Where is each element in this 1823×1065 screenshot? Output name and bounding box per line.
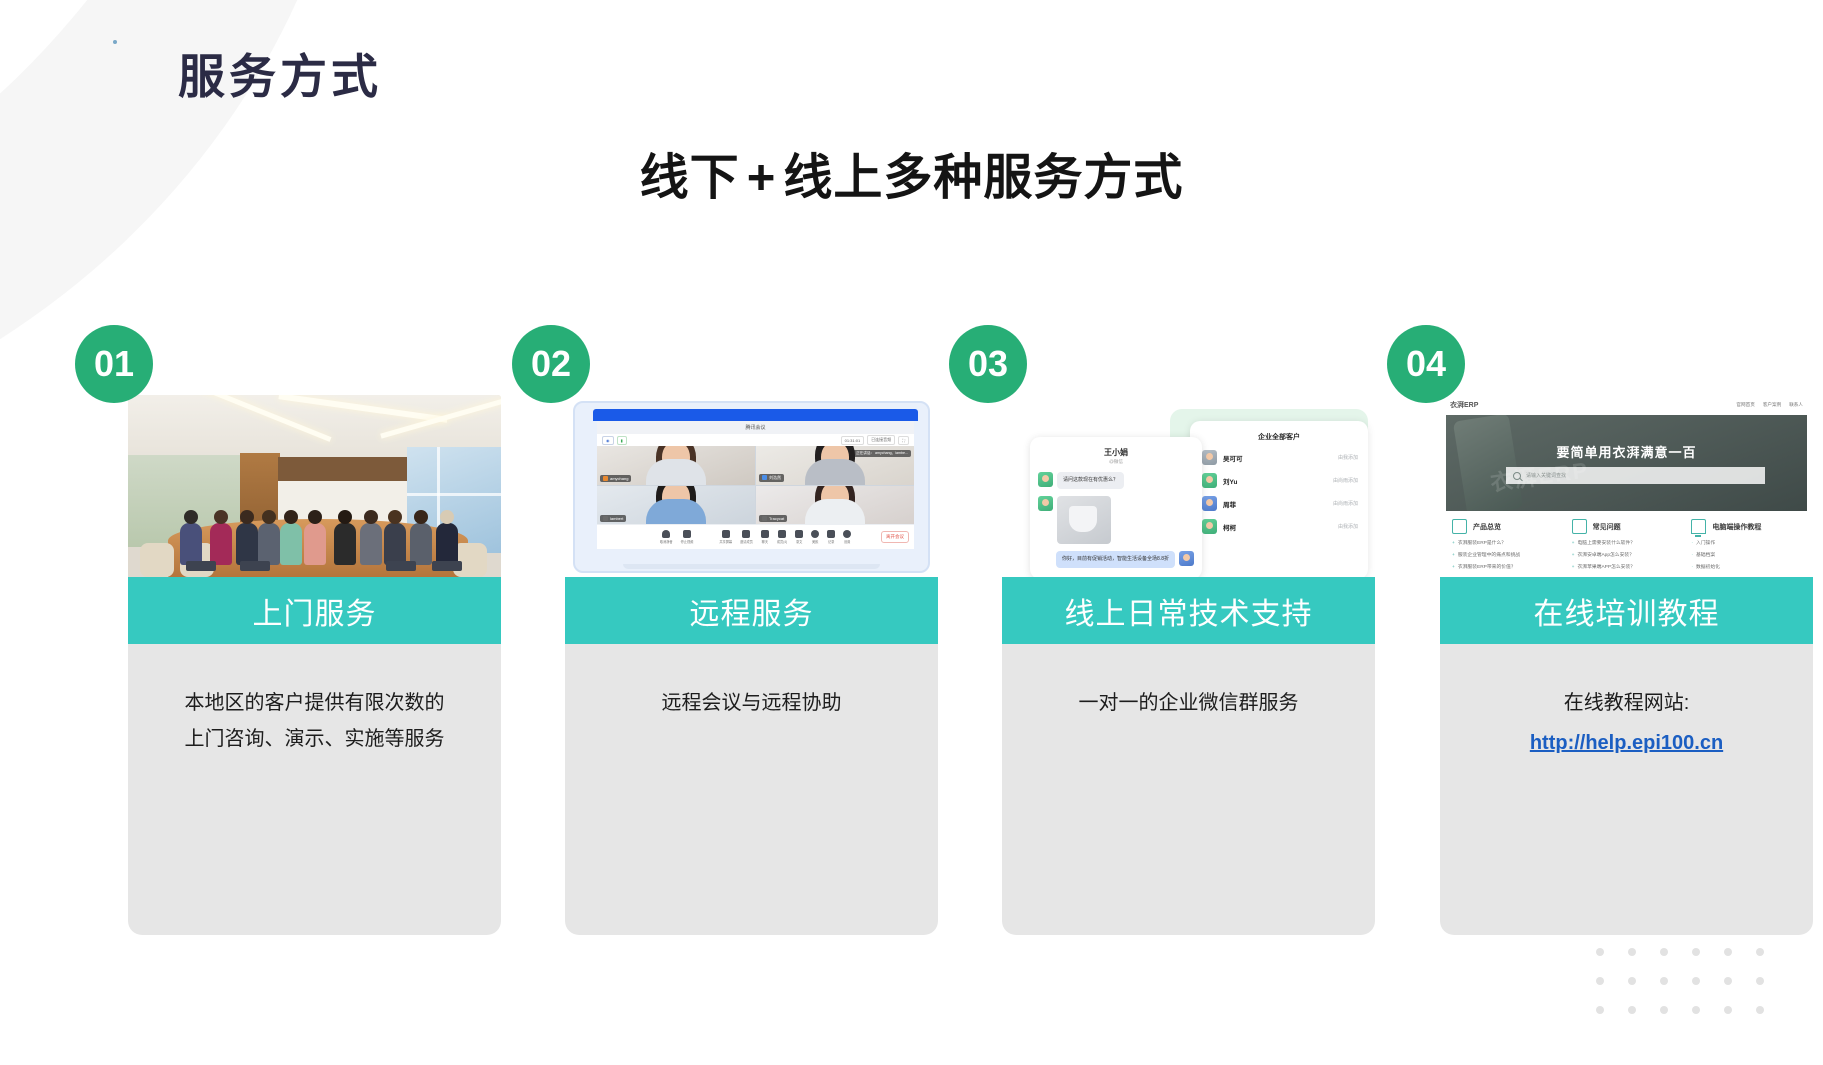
hw-column: 电脑端操作教程 ·入门操作 ·基础档案 ·数据初始化 查看更多 → (1691, 519, 1801, 577)
vc-tool-invite[interactable]: 邀请成员 (740, 530, 753, 544)
card-description-line1: 本地区的客户提供有限次数的 (136, 685, 493, 721)
wc-customer-name: 柯柯 (1223, 522, 1332, 532)
vc-timer: 01:31:01 (841, 436, 865, 445)
card-description: 在线教程网站: http://help.epi100.cn (1448, 685, 1805, 761)
wc-customer-name: 刘Yu (1223, 476, 1327, 486)
hw-columns: 产品总览 +衣湃服装ERP是什么？ +服装企业管理中的痛点和挑战 +衣湃服装ER… (1452, 519, 1801, 577)
vc-name-label: lambert (610, 516, 623, 521)
card-number-badge: 03 (949, 325, 1027, 403)
card-title: 在线培训教程 (1534, 589, 1720, 633)
wc-customer-tag: 由尚雨添加 (1333, 477, 1358, 484)
question-icon (1572, 519, 1587, 534)
card-thumbnail-meeting-room (128, 395, 501, 577)
card-title-bar: 线上日常技术支持 (1002, 577, 1375, 644)
vc-name-label: 刘浩然 (769, 475, 781, 480)
monitor-icon (1691, 519, 1706, 534)
vc-tool-members[interactable]: 成员(4) (777, 530, 787, 544)
vc-tool-mic[interactable]: 取消静音 (660, 530, 673, 544)
hw-link-item[interactable]: ·数据初始化 (1691, 563, 1801, 570)
card-title-bar: 远程服务 (565, 577, 938, 644)
hw-nav-item[interactable]: 客户案例 (1763, 402, 1781, 408)
wc-message: 请问这款现在有优惠么？ (1038, 472, 1202, 489)
card-description-line1: 在线教程网站: (1448, 685, 1805, 721)
vc-tool-notes[interactable]: 记录 (827, 530, 835, 544)
hw-link-item[interactable]: +衣湃服装ERP是什么？ (1452, 539, 1562, 546)
vc-name-label: amychang (610, 476, 628, 481)
card-number-badge: 01 (75, 325, 153, 403)
vc-tool-video[interactable]: 停止视频 (681, 530, 694, 544)
hw-navbar: 衣湃ERP 官网首页 客户案例 联系人 (1440, 395, 1813, 415)
hw-link-item[interactable]: +衣湃服装ERP带来的价值？ (1452, 563, 1562, 570)
wc-customer-name: 吴可可 (1223, 453, 1332, 463)
wc-message: 你好，目前有促销活动，智能生活设备全场8.8折 (1038, 551, 1194, 568)
card-thumbnail-video-conference: 腾讯会议 ◉ ▮ 01:31:01 已连接音频 ⛶ (565, 395, 938, 577)
card-title-bar: 在线培训教程 (1440, 577, 1813, 644)
wc-customer-row[interactable]: 周菲 由尚雨添加 (1202, 496, 1358, 511)
vc-tool-beauty[interactable]: 美颜 (811, 530, 819, 544)
vc-tool-settings[interactable]: 设置 (843, 530, 851, 544)
wc-customer-tag: 由我添加 (1338, 523, 1358, 530)
card-title-bar: 上门服务 (128, 577, 501, 644)
card-description-line1: 一对一的企业微信群服务 (1010, 685, 1367, 721)
card-title: 远程服务 (690, 589, 814, 633)
card-body-background (1002, 635, 1375, 935)
hw-column-title: 电脑端操作教程 (1712, 522, 1761, 532)
vc-window-title: 腾讯会议 (745, 424, 765, 431)
hw-column: 产品总览 +衣湃服装ERP是什么？ +服装企业管理中的痛点和挑战 +衣湃服装ER… (1452, 519, 1562, 577)
vc-participant-tile: amychang (597, 446, 755, 485)
hw-search-input[interactable]: 请输入关键词查找 (1506, 467, 1765, 484)
hw-hero-title: 要简单用衣湃满意一百 (1446, 442, 1807, 461)
hw-logo: 衣湃ERP (1450, 400, 1478, 410)
hw-column-title: 常见问题 (1593, 522, 1621, 532)
service-card-3[interactable]: 企业全部客户 吴可可 由我添加 刘Yu 由尚雨添加 周菲 由尚雨添加 (1002, 395, 1375, 935)
hw-search-placeholder: 请输入关键词查找 (1526, 472, 1566, 479)
card-thumbnail-help-website: 衣湃ERP 官网首页 客户案例 联系人 衣湃ERP 要简单用衣湃满意一百 请输入… (1440, 395, 1813, 577)
wc-customer-row[interactable]: 柯柯 由我添加 (1202, 519, 1358, 534)
wc-customer-row[interactable]: 吴可可 由我添加 (1202, 450, 1358, 465)
card-description: 远程会议与远程协助 (573, 685, 930, 721)
main-heading-left: 线下 (640, 151, 740, 205)
card-number-badge: 02 (512, 325, 590, 403)
service-card-2[interactable]: 腾讯会议 ◉ ▮ 01:31:01 已连接音频 ⛶ (565, 395, 938, 935)
hw-link-item[interactable]: +衣湃安卓端App怎么安装？ (1572, 551, 1682, 558)
vc-participant-tile: lambert (597, 486, 755, 525)
hw-column-title: 产品总览 (1473, 522, 1501, 532)
wc-panel-title: 企业全部客户 (1190, 432, 1368, 442)
hw-link-item[interactable]: ·入门操作 (1691, 539, 1801, 546)
wc-message-text: 请问这款现在有优惠么？ (1057, 472, 1124, 489)
card-number-badge: 04 (1387, 325, 1465, 403)
wc-contact-sub: @微信 (1030, 459, 1202, 465)
wc-image-attachment[interactable] (1057, 496, 1111, 544)
card-description-line2: 上门咨询、演示、实施等服务 (136, 721, 493, 757)
card-title: 上门服务 (253, 589, 377, 633)
card-title: 线上日常技术支持 (1065, 589, 1313, 633)
vc-tool-chat[interactable]: 聊天 (761, 530, 769, 544)
wc-customer-tag: 由我添加 (1338, 454, 1358, 461)
vc-participant-tile: 正在讲话： amychang、lambe... 刘浩然 (756, 446, 914, 485)
card-body-background (1440, 635, 1813, 935)
vc-toolbar: 取消静音 停止视频 共享屏幕 邀请成员 聊天 成员(4) 录文 美颜 记录 设置… (597, 524, 914, 549)
card-body-background (565, 635, 938, 935)
hw-nav-item[interactable]: 官网首页 (1736, 402, 1754, 408)
vc-leave-button[interactable]: 离开会议 (881, 531, 909, 543)
list-icon (1452, 519, 1467, 534)
card-description: 本地区的客户提供有限次数的 上门咨询、演示、实施等服务 (136, 685, 493, 757)
vc-mic-chip: 已连接音频 (867, 435, 895, 445)
card-thumbnail-wechat-chat: 企业全部客户 吴可可 由我添加 刘Yu 由尚雨添加 周菲 由尚雨添加 (1002, 395, 1375, 577)
card-body-background (128, 635, 501, 935)
hw-column: 常见问题 +电脑上需要安装什么软件？ +衣湃安卓端App怎么安装？ +衣湃苹果端… (1572, 519, 1682, 577)
hw-link-item[interactable]: ·基础档案 (1691, 551, 1801, 558)
vc-name-label: Tracycat (769, 516, 784, 521)
wc-customer-row[interactable]: 刘Yu 由尚雨添加 (1202, 473, 1358, 488)
vc-fullscreen-icon[interactable]: ⛶ (898, 436, 909, 445)
main-heading-right: 线上多种服务方式 (783, 151, 1183, 205)
service-card-1[interactable]: 上门服务 本地区的客户提供有限次数的 上门咨询、演示、实施等服务 01 (128, 395, 501, 935)
wc-contact-name: 王小娟 (1030, 447, 1202, 458)
card-tutorial-link[interactable]: http://help.epi100.cn (1448, 725, 1805, 761)
service-card-4[interactable]: 衣湃ERP 官网首页 客户案例 联系人 衣湃ERP 要简单用衣湃满意一百 请输入… (1440, 395, 1813, 935)
card-description-line1: 远程会议与远程协助 (573, 685, 930, 721)
wc-message-image (1038, 496, 1202, 544)
main-heading-plus: + (740, 151, 784, 205)
hw-hero-banner: 衣湃ERP 要简单用衣湃满意一百 请输入关键词查找 (1446, 415, 1807, 511)
card-description: 一对一的企业微信群服务 (1010, 685, 1367, 721)
main-heading: 线下+线上多种服务方式 (0, 138, 1823, 209)
wc-message-text: 你好，目前有促销活动，智能生活设备全场8.8折 (1056, 551, 1175, 568)
hw-link-item[interactable]: +服装企业管理中的痛点和挑战 (1452, 551, 1562, 558)
wc-chat-panel: 王小娟 @微信 请问这款现在有优惠么？ 你好，目前有促销活动，智能生活设备全场8… (1030, 437, 1202, 577)
wc-customer-name: 周菲 (1223, 499, 1327, 509)
vc-tool-share[interactable]: 共享屏幕 (719, 530, 732, 544)
wc-customer-panel: 企业全部客户 吴可可 由我添加 刘Yu 由尚雨添加 周菲 由尚雨添加 (1190, 421, 1368, 577)
wc-customer-tag: 由尚雨添加 (1333, 500, 1358, 507)
hw-link-item[interactable]: +衣湃苹果端APP怎么安装？ (1572, 563, 1682, 570)
page-title: 服务方式 (178, 38, 382, 107)
search-icon (1513, 472, 1521, 480)
vc-tool-record[interactable]: 录文 (795, 530, 803, 544)
hw-link-item[interactable]: +电脑上需要安装什么软件？ (1572, 539, 1682, 546)
hw-nav-item[interactable]: 联系人 (1789, 402, 1803, 408)
vc-participant-tile: Tracycat (756, 486, 914, 525)
